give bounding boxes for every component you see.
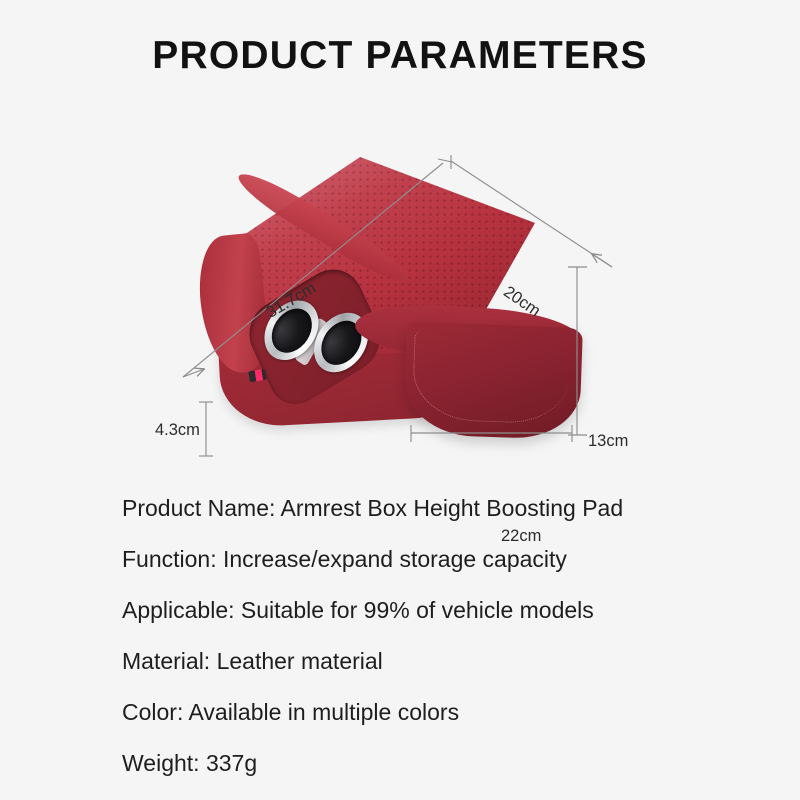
page-title: PRODUCT PARAMETERS	[0, 34, 800, 78]
spec-line-weight: Weight: 337g	[122, 738, 762, 789]
product-figure: 31.7cm 20cm 4.3cm 13cm 22cm	[0, 115, 800, 470]
spec-list: Product Name: Armrest Box Height Boostin…	[122, 483, 762, 789]
spec-line-material: Material: Leather material	[122, 636, 762, 687]
spec-line-color: Color: Available in multiple colors	[122, 687, 762, 738]
spec-line-product-name: Product Name: Armrest Box Height Boostin…	[122, 483, 762, 534]
product-photo	[0, 115, 800, 470]
dimension-label-height: 4.3cm	[155, 421, 200, 440]
spec-line-function: Function: Increase/expand storage capaci…	[122, 534, 762, 585]
pocket-stitching	[412, 331, 571, 424]
side-storage-pocket	[403, 322, 583, 440]
spec-line-applicable: Applicable: Suitable for 99% of vehicle …	[122, 585, 762, 636]
dimension-label-depth: 13cm	[588, 432, 628, 451]
